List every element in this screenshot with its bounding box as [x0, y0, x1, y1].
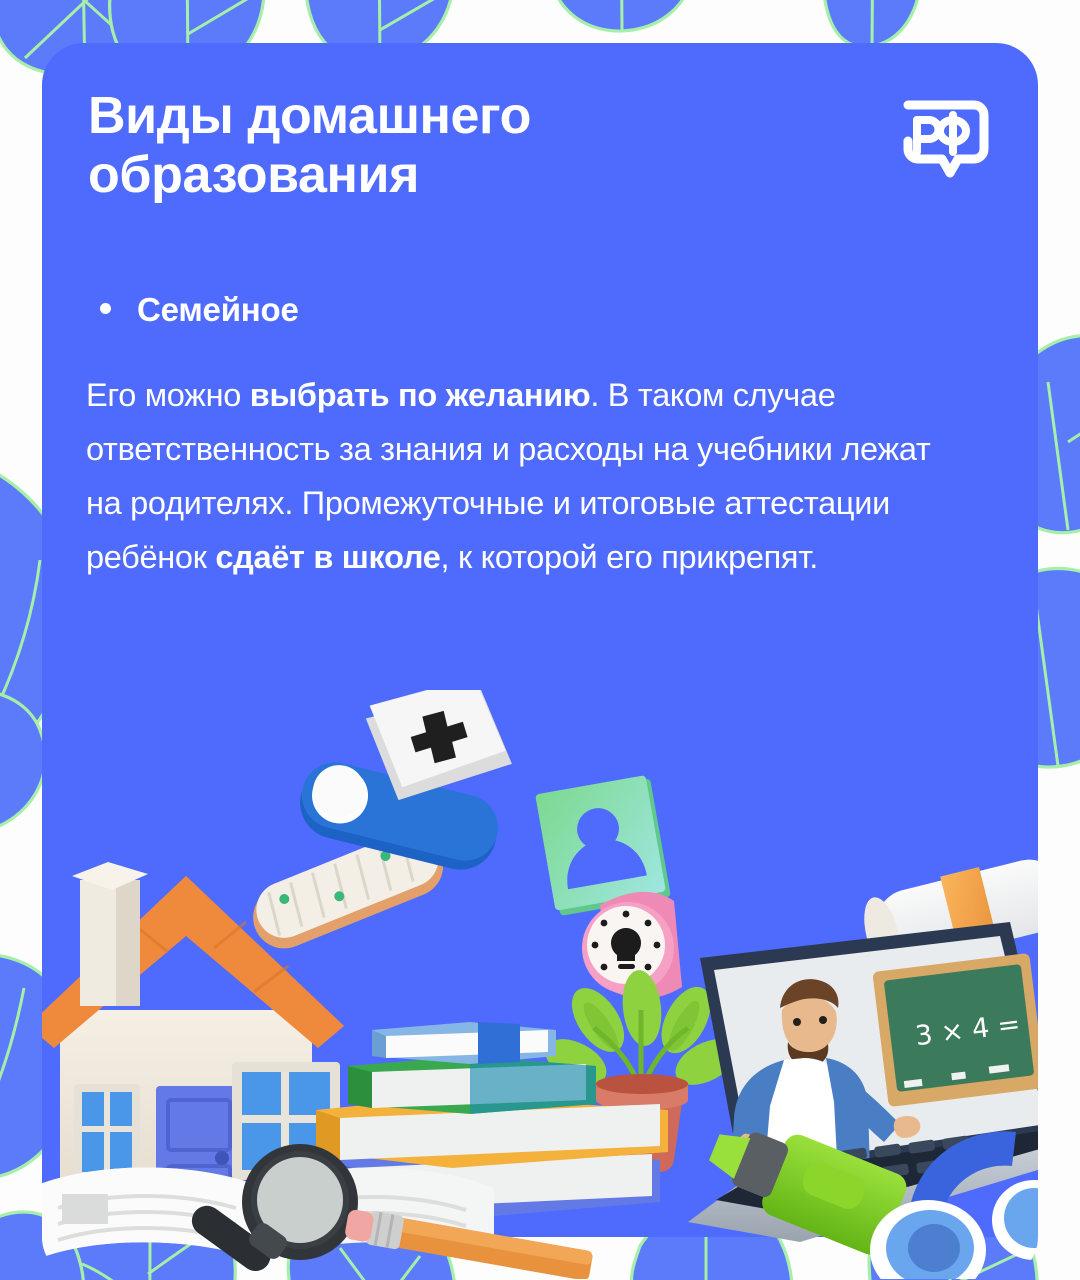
paragraph-text: , к которой его прикрепят.	[441, 539, 818, 575]
leaf-shape	[549, 0, 698, 31]
leaf-shape	[824, 0, 923, 48]
paragraph-emphasis: сдаёт в школе	[215, 539, 440, 575]
card-content: Семейное Его можно выбрать по желанию. В…	[86, 291, 998, 585]
paragraph-text: Его можно	[86, 377, 250, 413]
bullet-label: Семейное	[137, 291, 299, 329]
bullet-item: Семейное	[100, 291, 998, 329]
page-title: Виды домашнего образования	[88, 87, 531, 206]
card-header: Виды домашнего образования	[88, 87, 992, 206]
info-card: Виды домашнего образования Семейное Его …	[42, 43, 1038, 1237]
gosuslugi-rf-logo	[896, 95, 992, 183]
bullet-dot-icon	[100, 303, 111, 314]
paragraph-emphasis: выбрать по желанию	[250, 377, 591, 413]
body-paragraph: Его можно выбрать по желанию. В таком сл…	[86, 369, 966, 585]
